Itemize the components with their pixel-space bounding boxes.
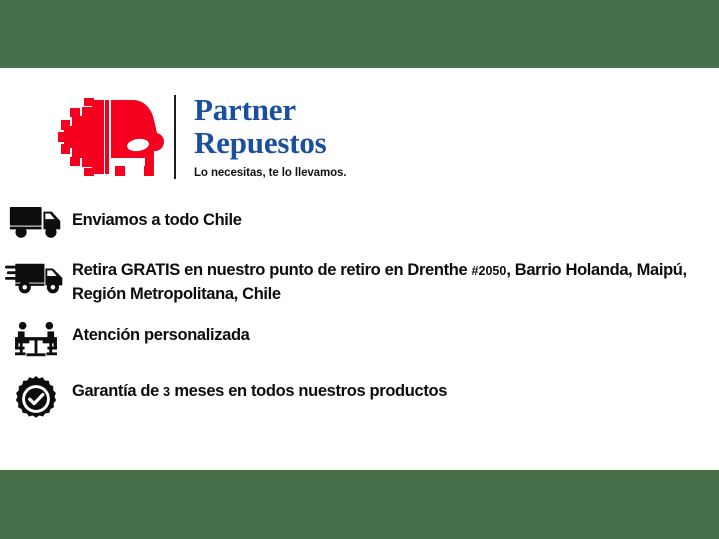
feature-text-warranty: Garantía de 3 meses en todos nuestros pr… xyxy=(72,374,719,404)
feature-row-pickup: Retira GRATIS en nuestro punto de retiro… xyxy=(0,256,719,306)
feature-row-warranty: Garantía de 3 meses en todos nuestros pr… xyxy=(0,374,719,422)
guarantee-badge-icon xyxy=(0,374,72,422)
logo-divider xyxy=(174,95,176,179)
feature-text-attention: Atención personalizada xyxy=(72,318,719,347)
brand-tagline: Lo necesitas, te lo llevamos. xyxy=(194,167,346,180)
banner-content: Partner Repuestos Lo necesitas, te lo ll… xyxy=(0,68,719,470)
feature-text-pickup: Retira GRATIS en nuestro punto de retiro… xyxy=(72,256,719,306)
feature-row-attention: Atención personalizada xyxy=(0,318,719,360)
gear-car-icon xyxy=(58,96,166,178)
top-green-band xyxy=(0,0,719,68)
delivery-truck-icon xyxy=(0,203,72,239)
warranty-text-part-1: Garantía de xyxy=(72,382,163,400)
feature-text-shipping: Enviamos a todo Chile xyxy=(72,203,719,232)
brand-name-line-1: Partner xyxy=(194,94,346,125)
promo-banner: Partner Repuestos Lo necesitas, te lo ll… xyxy=(0,0,719,539)
feature-list: Enviamos a todo Chile xyxy=(0,203,719,422)
pickup-text-part-1: Retira GRATIS en nuestro punto de retiro… xyxy=(72,261,472,279)
bottom-green-band xyxy=(0,470,719,539)
brand-name-line-2: Repuestos xyxy=(194,127,346,158)
warranty-text-part-2: meses en todos nuestros productos xyxy=(170,382,447,400)
brand-logo-lockup: Partner Repuestos Lo necesitas, te lo ll… xyxy=(58,94,346,180)
meeting-table-icon xyxy=(0,318,72,360)
brand-wordmark: Partner Repuestos Lo necesitas, te lo ll… xyxy=(194,94,346,180)
feature-row-shipping: Enviamos a todo Chile xyxy=(0,203,719,239)
pickup-address-number: #2050 xyxy=(472,264,507,278)
fast-truck-icon xyxy=(0,256,72,294)
